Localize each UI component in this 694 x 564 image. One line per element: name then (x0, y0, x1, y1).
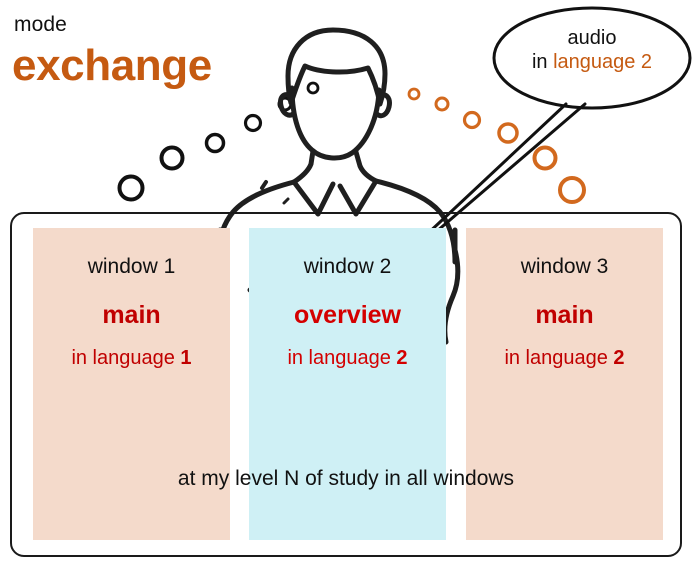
level-note: at my level N of study in all windows (10, 468, 682, 489)
window-panel-2-body: window 2 overview in language 2 (249, 228, 446, 368)
window-panel-3-body: window 3 main in language 2 (466, 228, 663, 368)
speech-bubble-line-1: audio (497, 26, 687, 50)
window-panel-1-language: in language 1 (33, 348, 230, 368)
mode-title: exchange (12, 44, 212, 88)
speech-bubble-text: audio in language 2 (497, 26, 687, 75)
window-panel-2-language-number: 2 (396, 347, 407, 369)
window-panel-1[interactable]: window 1 main in language 1 (33, 228, 230, 540)
window-panel-1-title: window 1 (33, 256, 230, 277)
mode-label: mode (14, 14, 67, 35)
window-panel-2-language: in language 2 (249, 348, 446, 368)
window-panel-2-title: window 2 (249, 256, 446, 277)
window-panel-1-language-number: 1 (180, 347, 191, 369)
speech-bubble-line-2-highlight: language 2 (553, 51, 652, 73)
window-panel-3-language: in language 2 (466, 348, 663, 368)
window-panel-2-language-prefix: in language (287, 347, 396, 369)
window-panel-3-title: window 3 (466, 256, 663, 277)
black-circle-trail-icon (120, 83, 319, 200)
window-panel-1-language-prefix: in language (71, 347, 180, 369)
speech-bubble-line-2-prefix: in (532, 51, 553, 73)
speech-bubble-line-2: in language 2 (497, 50, 687, 74)
orange-circle-trail-icon (409, 89, 584, 202)
window-panel-3-language-number: 2 (613, 347, 624, 369)
window-panel-1-body: window 1 main in language 1 (33, 228, 230, 368)
infographic-canvas: mode exchange (0, 0, 694, 564)
window-panel-3-kind: main (466, 303, 663, 328)
window-panel-3[interactable]: window 3 main in language 2 (466, 228, 663, 540)
window-panel-1-kind: main (33, 303, 230, 328)
window-panel-2[interactable]: window 2 overview in language 2 (249, 228, 446, 540)
window-panel-3-language-prefix: in language (504, 347, 613, 369)
window-panel-2-kind: overview (249, 303, 446, 328)
